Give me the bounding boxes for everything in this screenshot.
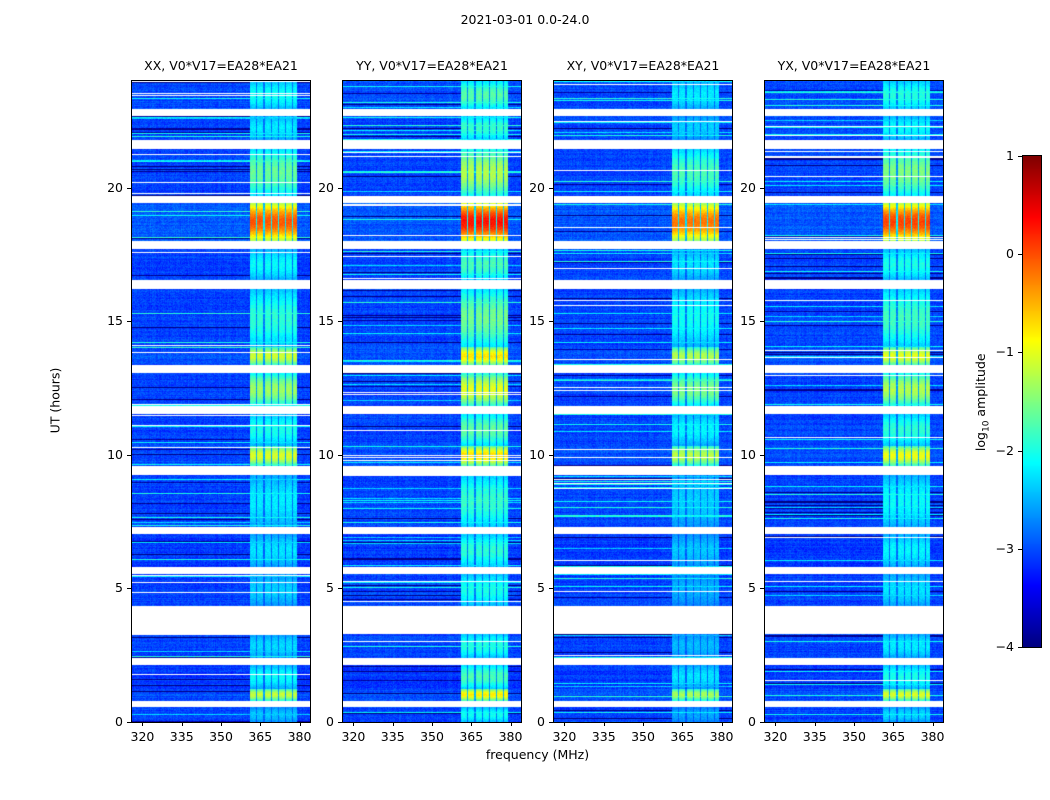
xtick-320 [564,722,565,726]
ytick-label-YX-10: 10 [700,447,756,462]
cbar-tick-label-4: −3 [960,541,1014,556]
panel-yy [342,80,522,723]
cbar-tick-label-1: 0 [960,246,1014,261]
ytick-YX-15 [760,321,764,322]
cbar-tick-2 [1018,352,1022,353]
xtick-320 [775,722,776,726]
dynamic-spectrum-image [132,81,310,722]
ytick-label-YX-5: 5 [700,580,756,595]
xtick-380 [933,722,934,726]
ytick-label-XY-0: 0 [489,714,545,729]
ytick-XY-0 [549,722,553,723]
ytick-label-YY-0: 0 [278,714,334,729]
ytick-label-YY-20: 20 [278,180,334,195]
ytick-YY-0 [338,722,342,723]
ytick-label-YY-5: 5 [278,580,334,595]
colorbar-label: log10 amplitude [973,292,992,512]
ytick-label-YX-0: 0 [700,714,756,729]
ytick-label-YX-15: 15 [700,313,756,328]
cbar-tick-label-0: 1 [960,148,1014,163]
xtick-365 [471,722,472,726]
xtick-320 [353,722,354,726]
ytick-label-YY-10: 10 [278,447,334,462]
xtick-365 [682,722,683,726]
dynamic-spectrum-image [765,81,943,722]
ytick-label-XY-5: 5 [489,580,545,595]
ytick-XY-5 [549,588,553,589]
xtick-365 [260,722,261,726]
panel-xx [131,80,311,723]
ytick-YX-10 [760,455,764,456]
yaxis-label: UT (hours) [48,300,63,500]
cbar-tick-1 [1018,254,1022,255]
ytick-XX-20 [127,188,131,189]
dynamic-spectrum-image [554,81,732,722]
ytick-YX-5 [760,588,764,589]
xtick-335 [182,722,183,726]
ytick-label-XX-15: 15 [67,313,123,328]
ytick-YX-20 [760,188,764,189]
xtick-350 [643,722,644,726]
xaxis-label: frequency (MHz) [388,747,688,762]
ytick-label-XX-10: 10 [67,447,123,462]
colorbar-gradient [1023,156,1041,647]
colorbar-label-amplitude: amplitude [973,353,988,420]
xtick-335 [815,722,816,726]
ytick-label-YY-15: 15 [278,313,334,328]
cbar-tick-3 [1018,451,1022,452]
ytick-XX-15 [127,321,131,322]
ytick-XX-0 [127,722,131,723]
cbar-tick-label-5: −4 [960,639,1014,654]
figure-suptitle: 2021-03-01 0.0-24.0 [0,12,1050,27]
xtick-365 [893,722,894,726]
xtick-350 [854,722,855,726]
ytick-XX-5 [127,588,131,589]
colorbar-label-subscript: 10 [981,420,991,431]
cbar-tick-5 [1018,647,1022,648]
panel-yx-title: YX, V0*V17=EA28*EA21 [704,58,1004,73]
ytick-YY-15 [338,321,342,322]
panel-xy [553,80,733,723]
xtick-label-380: 380 [903,729,963,744]
ytick-label-XY-20: 20 [489,180,545,195]
ytick-label-XX-5: 5 [67,580,123,595]
ytick-label-YX-20: 20 [700,180,756,195]
ytick-YY-20 [338,188,342,189]
xtick-350 [432,722,433,726]
ytick-label-XY-15: 15 [489,313,545,328]
cbar-tick-0 [1018,156,1022,157]
ytick-label-XX-20: 20 [67,180,123,195]
xtick-350 [221,722,222,726]
ytick-YX-0 [760,722,764,723]
xtick-335 [604,722,605,726]
ytick-XY-10 [549,455,553,456]
xtick-320 [142,722,143,726]
ytick-XX-10 [127,455,131,456]
colorbar-label-log: log [973,432,988,451]
xtick-label-380: 380 [481,729,541,744]
xtick-335 [393,722,394,726]
ytick-XY-15 [549,321,553,322]
colorbar[interactable] [1022,155,1042,648]
xtick-label-380: 380 [692,729,752,744]
dynamic-spectrum-image [343,81,521,722]
panel-yx [764,80,944,723]
ytick-YY-10 [338,455,342,456]
ytick-label-XX-0: 0 [67,714,123,729]
ytick-label-XY-10: 10 [489,447,545,462]
ytick-YY-5 [338,588,342,589]
cbar-tick-4 [1018,549,1022,550]
figure-canvas: 2021-03-01 0.0-24.0 XX, V0*V17=EA28*EA21… [0,0,1050,800]
ytick-XY-20 [549,188,553,189]
xtick-label-380: 380 [270,729,330,744]
